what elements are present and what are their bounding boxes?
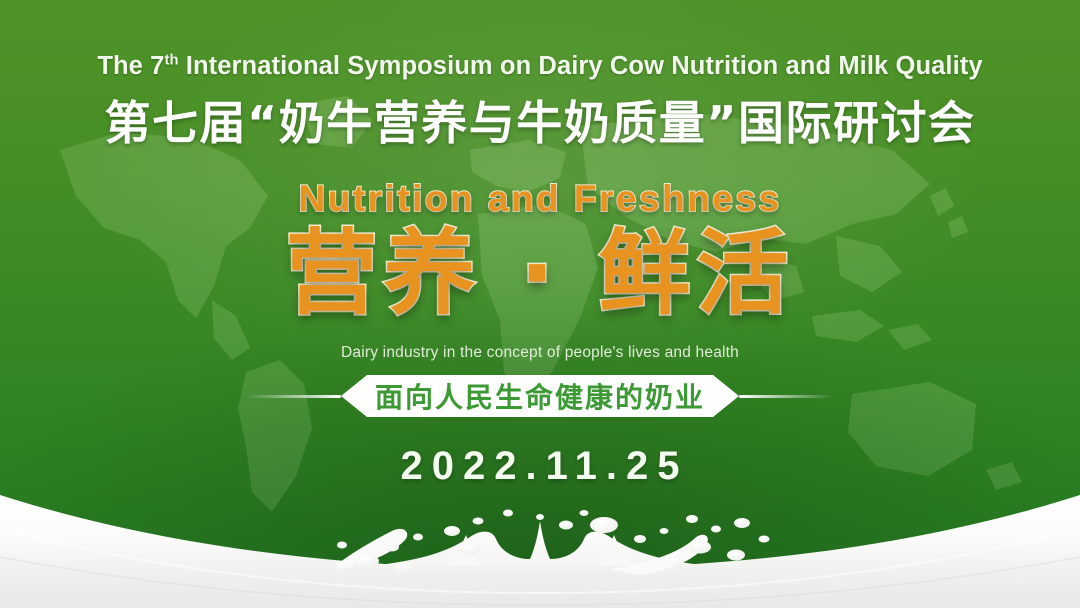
english-slogan: Nutrition and Freshness bbox=[0, 178, 1080, 220]
ribbon-line-right bbox=[739, 395, 834, 398]
english-subtitle: Dairy industry in the concept of people'… bbox=[0, 344, 1080, 362]
ribbon-line-left bbox=[246, 395, 341, 398]
subtitle-ribbon: 面向人民生命健康的奶业 bbox=[0, 374, 1080, 418]
conference-poster: The 7th International Symposium on Dairy… bbox=[0, 0, 1080, 608]
chinese-subtitle: 面向人民生命健康的奶业 bbox=[375, 376, 705, 416]
milk-splash-icon bbox=[0, 473, 1080, 608]
chinese-slogan: 营养 · 鲜活 bbox=[0, 224, 1080, 323]
english-title-lead: The 7 bbox=[97, 52, 164, 80]
poster-header: The 7th International Symposium on Dairy… bbox=[0, 52, 1080, 153]
ribbon-banner: 面向人民生命健康的奶业 bbox=[341, 375, 739, 417]
english-title-ordinal-suffix: th bbox=[164, 53, 178, 69]
chinese-title: 第七届“奶牛营养与牛奶质量”国际研讨会 bbox=[0, 87, 1080, 153]
english-title-rest: International Symposium on Dairy Cow Nut… bbox=[179, 52, 983, 80]
english-title: The 7th International Symposium on Dairy… bbox=[0, 52, 1080, 81]
